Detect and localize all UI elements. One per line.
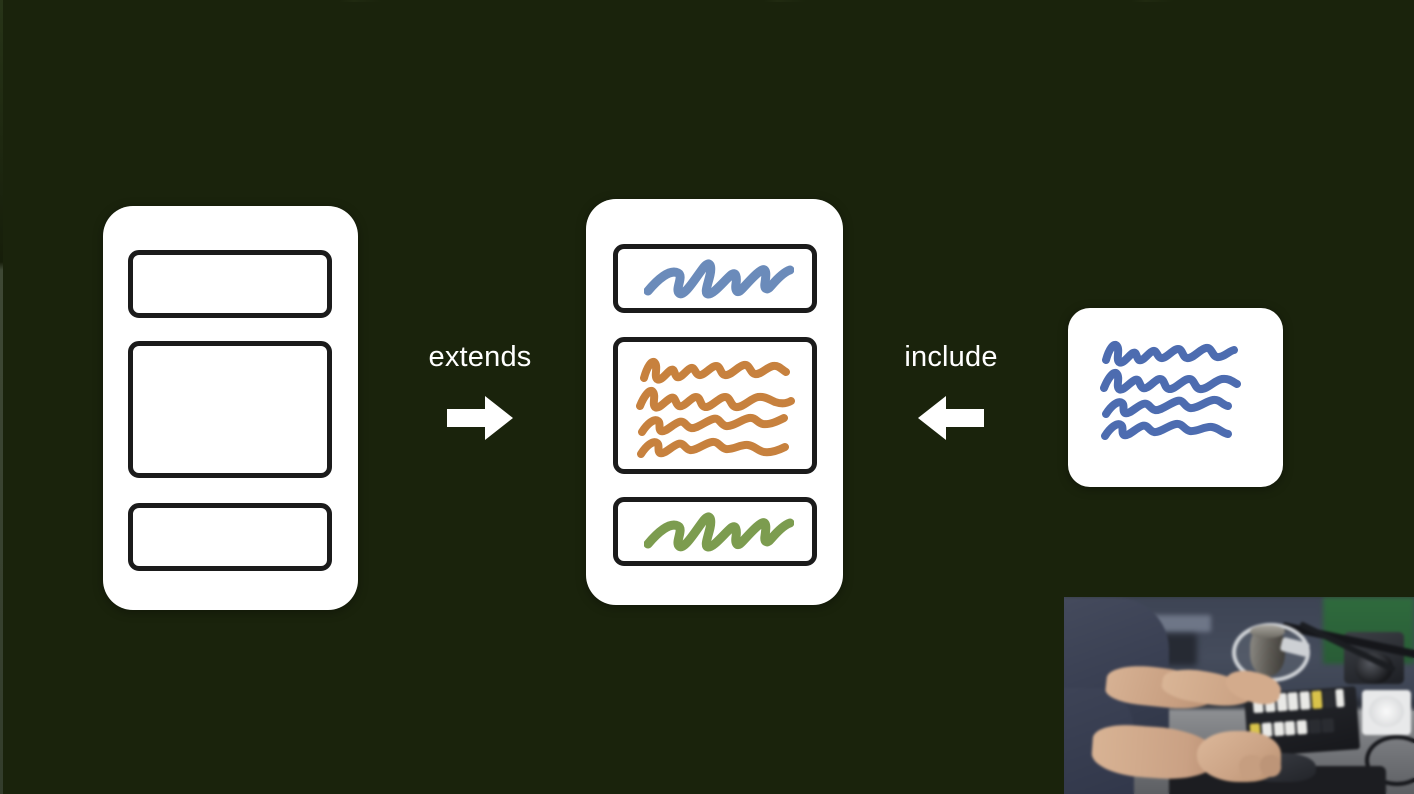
child-block-middle[interactable]	[613, 337, 817, 474]
base-block-middle[interactable]	[128, 341, 332, 478]
base-block-bottom[interactable]	[128, 503, 332, 571]
extends-label: extends	[414, 343, 546, 372]
left-edge-artifact	[0, 0, 3, 794]
scribble-orange-paragraph	[634, 354, 808, 466]
include-relation: include	[888, 343, 1014, 442]
wc-soft-focus	[1064, 597, 1414, 794]
top-edge-artifact	[0, 0, 1414, 2]
include-arrow-left-icon	[888, 394, 1014, 442]
child-block-bottom[interactable]	[613, 497, 817, 566]
base-template-card[interactable]	[103, 206, 358, 610]
scribble-blue-paragraph	[1100, 338, 1252, 456]
scribble-green-short	[644, 510, 794, 558]
include-label: include	[888, 343, 1014, 372]
extends-arrow-right-icon	[414, 394, 546, 442]
webcam-scene	[1064, 597, 1414, 794]
slide-canvas: extends	[0, 0, 1414, 794]
webcam-overlay[interactable]	[1064, 597, 1414, 794]
scribble-blue-short	[644, 257, 794, 305]
extends-relation: extends	[414, 343, 546, 442]
child-template-card[interactable]	[586, 199, 843, 605]
partial-template-card[interactable]	[1068, 308, 1283, 487]
child-block-top[interactable]	[613, 244, 817, 313]
base-block-top[interactable]	[128, 250, 332, 318]
